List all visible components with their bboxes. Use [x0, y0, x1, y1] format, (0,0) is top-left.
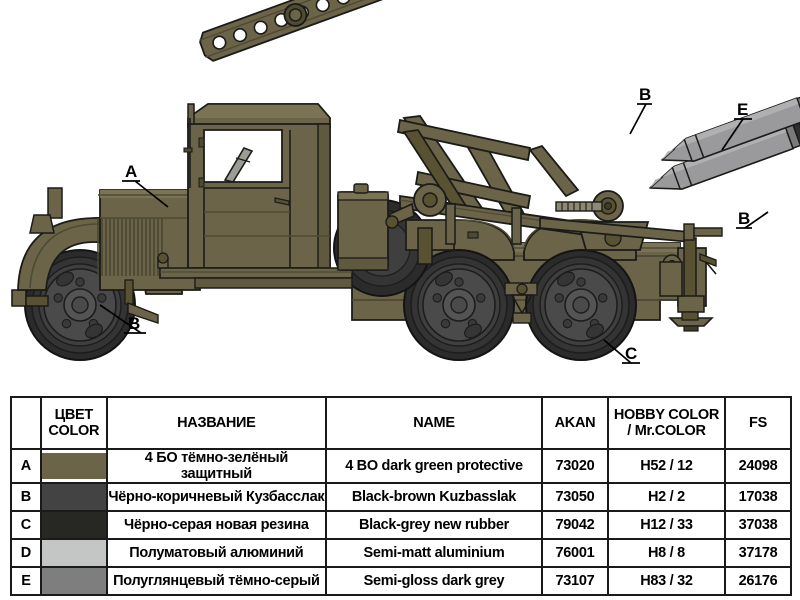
color-swatch-cell — [41, 483, 107, 511]
color-swatch-cell — [41, 511, 107, 539]
row-hobby: H83 / 32 — [608, 567, 725, 595]
color-swatch — [42, 568, 106, 594]
row-name-en: 4 BO dark green protective — [326, 449, 542, 483]
row-key: B — [11, 483, 41, 511]
row-name-ru: Чёрно-коричневый Кузбасслак — [107, 483, 326, 511]
page-root: A B B B C E ЦВЕТ COLOR — [0, 0, 800, 600]
callout-label-e: E — [737, 100, 748, 119]
row-name-en: Black-brown Kuzbasslak — [326, 483, 542, 511]
wheel-rear — [526, 250, 636, 360]
vehicle-illustration: A B B B C E — [0, 0, 800, 392]
table-row: A 4 БО тёмно-зелёный защитный 4 BO dark … — [11, 449, 791, 483]
header-hobby-line2: / Mr.COLOR — [609, 423, 724, 439]
header-key — [11, 397, 41, 449]
callout-label-b1: B — [128, 314, 140, 333]
table-row: D Полуматовый алюминий Semi-matt alumini… — [11, 539, 791, 567]
row-name-en: Black-grey new rubber — [326, 511, 542, 539]
table-row: C Чёрно-серая новая резина Black-grey ne… — [11, 511, 791, 539]
header-akan: AKAN — [542, 397, 608, 449]
row-name-en: Semi-gloss dark grey — [326, 567, 542, 595]
row-fs: 26176 — [725, 567, 791, 595]
callout-label-c: C — [625, 344, 637, 363]
table-row: E Полуглянцевый тёмно-серый Semi-gloss d… — [11, 567, 791, 595]
header-name-ru: НАЗВАНИЕ — [107, 397, 326, 449]
table-header-row: ЦВЕТ COLOR НАЗВАНИЕ NAME AKAN HOBBY COLO… — [11, 397, 791, 449]
row-name-en: Semi-matt aluminium — [326, 539, 542, 567]
header-hobby-line1: HOBBY COLOR — [609, 407, 724, 423]
paint-color-table: ЦВЕТ COLOR НАЗВАНИЕ NAME AKAN HOBBY COLO… — [10, 396, 792, 596]
callout-label-a: A — [125, 162, 137, 181]
row-fs: 37038 — [725, 511, 791, 539]
header-fs: FS — [725, 397, 791, 449]
callout-label-b2: B — [639, 85, 651, 104]
color-swatch — [42, 484, 106, 510]
color-swatch-cell — [41, 449, 107, 483]
header-hobby-color: HOBBY COLOR / Mr.COLOR — [608, 397, 725, 449]
cab — [184, 104, 330, 268]
row-name-ru: 4 БО тёмно-зелёный защитный — [107, 449, 326, 483]
header-name-en: NAME — [326, 397, 542, 449]
row-hobby: H8 / 8 — [608, 539, 725, 567]
color-swatch — [42, 512, 106, 538]
row-hobby: H52 / 12 — [608, 449, 725, 483]
row-fs: 17038 — [725, 483, 791, 511]
row-name-ru: Полуматовый алюминий — [107, 539, 326, 567]
row-fs: 37178 — [725, 539, 791, 567]
row-hobby: H2 / 2 — [608, 483, 725, 511]
row-name-ru: Чёрно-серая новая резина — [107, 511, 326, 539]
color-swatch — [42, 540, 106, 566]
row-key: C — [11, 511, 41, 539]
header-color: ЦВЕТ COLOR — [41, 397, 107, 449]
callout-label-b3: B — [738, 209, 750, 228]
row-akan: 79042 — [542, 511, 608, 539]
row-akan: 76001 — [542, 539, 608, 567]
row-akan: 73107 — [542, 567, 608, 595]
row-hobby: H12 / 33 — [608, 511, 725, 539]
color-swatch-cell — [41, 539, 107, 567]
color-swatch-cell — [41, 567, 107, 595]
table-row: B Чёрно-коричневый Кузбасслак Black-brow… — [11, 483, 791, 511]
header-color-ru: ЦВЕТ — [42, 407, 106, 423]
row-key: A — [11, 449, 41, 483]
header-color-en: COLOR — [42, 423, 106, 439]
row-name-ru: Полуглянцевый тёмно-серый — [107, 567, 326, 595]
color-swatch — [42, 453, 106, 479]
row-key: E — [11, 567, 41, 595]
row-fs: 24098 — [725, 449, 791, 483]
fuel-tank — [338, 184, 388, 270]
row-akan: 73050 — [542, 483, 608, 511]
row-key: D — [11, 539, 41, 567]
row-akan: 73020 — [542, 449, 608, 483]
